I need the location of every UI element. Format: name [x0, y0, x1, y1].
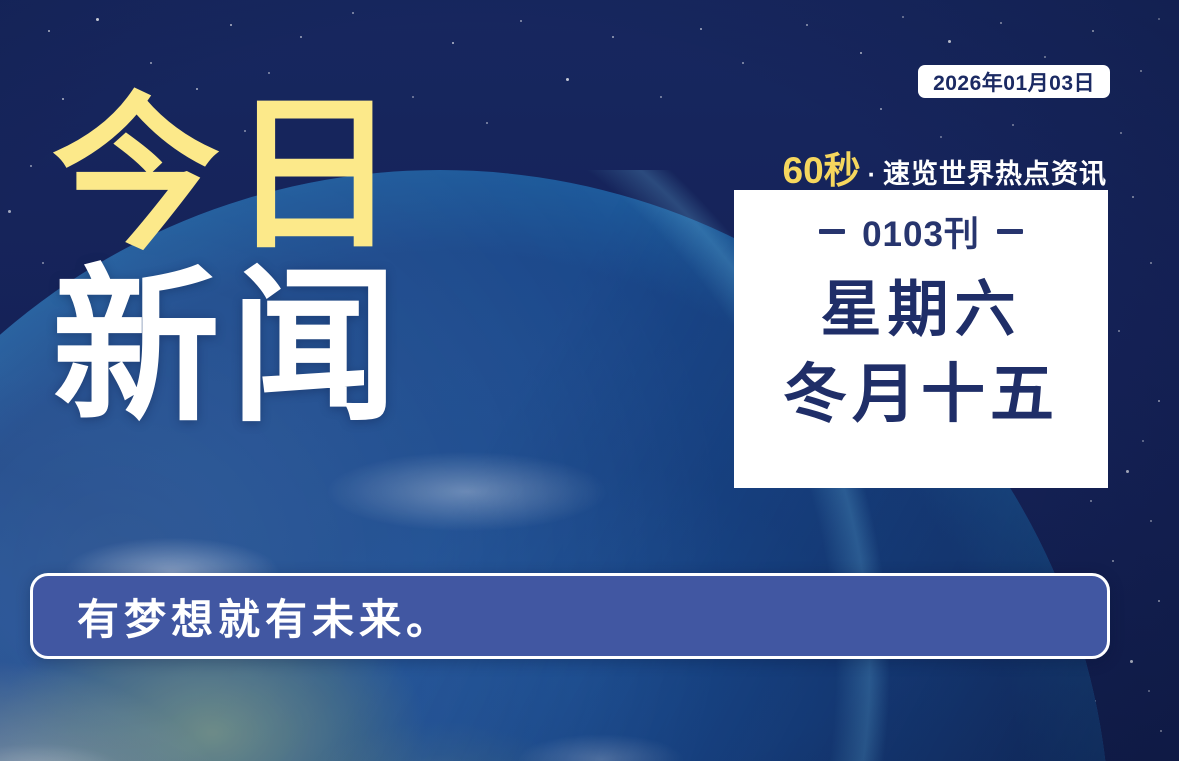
dash-left-icon: [819, 229, 845, 234]
weekday-label: 星期六: [820, 279, 1021, 340]
slogan-separator-dot: ·: [865, 161, 879, 190]
slogan-highlight-60s: 60秒: [783, 140, 861, 194]
slogan-text: 速览世界热点资讯: [883, 152, 1107, 191]
lunar-date-label: 冬月十五: [783, 362, 1059, 426]
issue-row: 0103刊: [819, 206, 1023, 257]
title-line-xinwen: 新闻: [52, 264, 482, 430]
title-line-jinri: 今日: [52, 92, 482, 258]
tagline-bar: 有梦想就有未来。: [30, 573, 1110, 659]
issue-number: 0103刊: [862, 206, 980, 257]
tagline-text: 有梦想就有未来。: [77, 586, 453, 647]
slogan: 60秒 · 速览世界热点资讯: [783, 140, 1107, 194]
dash-right-icon: [997, 229, 1023, 234]
news-poster: 今日 新闻 2026年01月03日 60秒 · 速览世界热点资讯 0103刊 星…: [0, 0, 1179, 761]
page-title: 今日 新闻: [52, 92, 482, 431]
date-badge: 2026年01月03日: [918, 65, 1110, 98]
info-card: 0103刊 星期六 冬月十五: [734, 190, 1108, 488]
